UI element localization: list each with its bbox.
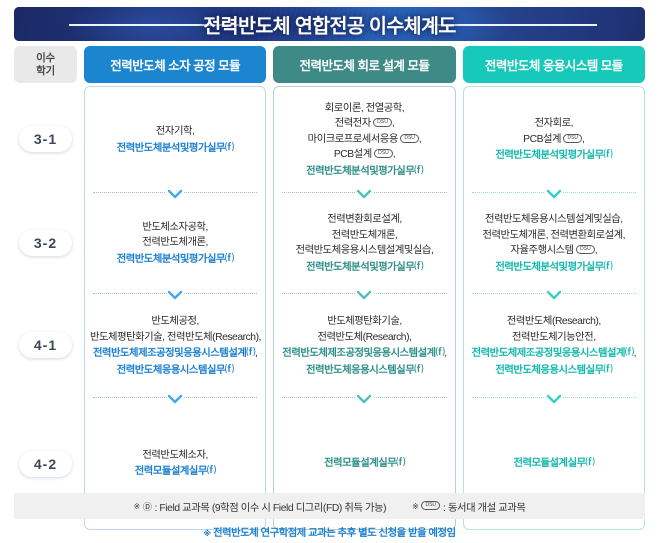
grid-columns: 이수 학기 3-1 3-2 4-1 4-2 [14, 46, 645, 530]
legend-item-dsu: ※ DSU : 동서대 개설 교과목 [412, 499, 525, 514]
course-cell-c1r0: 회로이론, 전열공학,전력전자 DSU,마이크로프로세서응용 DSU,PCB설계… [274, 87, 454, 193]
semester-header-line1: 이수 [36, 52, 55, 65]
semester-chip: 3-1 [19, 126, 72, 152]
field-mark-icon: ⒡ [246, 345, 255, 361]
course-name: 전력반도체분석및평가실무 [495, 262, 603, 273]
course-name: 전력모듈설계실무 [324, 458, 396, 469]
title-banner: 전력반도체 연합전공 이수체계도 [14, 7, 645, 41]
course-cell-c0r0: 전자기학,전력반도체분석및평가실무⒡ [85, 87, 265, 193]
course-name: PCB설계 [334, 149, 372, 160]
course-name: 전력반도체(Research), [507, 316, 601, 327]
course-line: 전력변환회로설계, [279, 212, 449, 228]
chevron-down-icon [545, 392, 563, 403]
module-body-1: 회로이론, 전열공학,전력전자 DSU,마이크로프로세서응용 DSU,PCB설계… [273, 86, 455, 530]
course-list: 전자기학,전력반도체분석및평가실무⒡ [90, 124, 260, 156]
course-name: 전력반도체분석및평가실무 [306, 166, 414, 177]
course-list: 전력모듈설계실무⒡ [469, 455, 639, 472]
chevron-down-icon [166, 288, 184, 299]
legend-field-text: : Field 교과목 (9학점 이수 시 Field 디그리(FD) 취득 가… [154, 499, 386, 514]
course-name: 마이크로프로세서응용 [308, 134, 398, 145]
course-name: 반도체소자공학, [142, 222, 208, 233]
semester-list: 3-1 3-2 4-1 4-2 [14, 86, 77, 530]
course-line: 전력반도체제조공정및응용시스템설계⒡, [469, 345, 639, 362]
course-list: 회로이론, 전열공학,전력전자 DSU,마이크로프로세서응용 DSU,PCB설계… [279, 101, 449, 180]
chevron-down-icon [166, 392, 184, 403]
semester-column: 이수 학기 3-1 3-2 4-1 4-2 [14, 46, 77, 530]
course-line: 전자회로, [469, 116, 639, 132]
module-body-0: 전자기학,전력반도체분석및평가실무⒡ 반도체소자공학,전력반도체개론,전력반도체… [84, 86, 266, 530]
field-mark-icon: ⒡ [207, 463, 216, 479]
semester-row: 3-2 [14, 192, 77, 293]
chevron-down-icon [166, 187, 184, 198]
course-line: 전력반도체응용시스템실무⒡ [279, 362, 449, 379]
course-name: 전력반도체제조공정및응용시스템설계 [93, 348, 246, 359]
course-line: 전력반도체기능안전, [469, 330, 639, 346]
course-line: 전력반도체분석및평가실무⒡ [279, 259, 449, 276]
field-mark-icon: ⒡ [396, 455, 405, 471]
field-mark-icon: ⒡ [604, 362, 613, 378]
course-line: PCB설계 DSU, [469, 132, 639, 148]
course-name: 자율주행시스템 [511, 245, 574, 256]
course-name: 전력모듈설계실무 [135, 466, 207, 477]
chevron-down-icon [355, 288, 373, 299]
course-name: 회로이론, 전열공학, [325, 103, 404, 114]
field-mark-icon: ⒡ [414, 163, 423, 179]
course-name: 전력반도체소자, [142, 450, 208, 461]
course-name: 전력반도체응용시스템설계및실습, [296, 245, 434, 256]
course-list: 전자회로,PCB설계 DSU,전력반도체분석및평가실무⒡ [469, 116, 639, 164]
course-list: 전력반도체응용시스템설계및실습,전력반도체개론, 전력변환회로설계,자율주행시스… [469, 212, 639, 275]
semester-row: 3-1 [14, 86, 77, 192]
semester-row: 4-1 [14, 293, 77, 397]
field-mark-icon: ⒡ [625, 345, 634, 361]
legend-dsu-text: : 동서대 개설 교과목 [443, 499, 525, 514]
course-line: 전자기학, [90, 124, 260, 140]
course-name: 반도체공정, [151, 316, 199, 327]
course-name: 전력반도체제조공정및응용시스템설계 [472, 348, 625, 359]
dsu-badge-icon: DSU [373, 118, 392, 127]
course-name: 전력전자 [335, 118, 371, 129]
field-mark-icon: ⒡ [225, 251, 234, 267]
course-line: 전력반도체분석및평가실무⒡ [90, 251, 260, 268]
module-header-2[interactable]: 전력반도체 응용시스템 모듈 [463, 46, 645, 83]
dsu-badge-icon: DSU [563, 134, 582, 143]
course-line: 마이크로프로세서응용 DSU, [279, 132, 449, 148]
page-title: 전력반도체 연합전공 이수체계도 [14, 10, 645, 39]
course-name: 전자기학, [156, 126, 195, 137]
course-line: 전력전자 DSU, [279, 116, 449, 132]
course-line: 전력반도체응용시스템설계및실습, [469, 212, 639, 228]
course-line: 전력모듈설계실무⒡ [279, 455, 449, 472]
field-mark-icon: Ⓓ [143, 500, 152, 513]
course-name: 전력반도체개론, 전력변환회로설계, [483, 230, 626, 241]
semester-chip: 4-1 [19, 332, 72, 358]
course-cell-c2r2: 전력반도체(Research),전력반도체기능안전,전력반도체제조공정및응용시스… [464, 294, 644, 398]
module-column-1: 전력반도체 회로 설계 모듈 회로이론, 전열공학,전력전자 DSU,마이크로프… [273, 46, 455, 530]
course-line: 전력반도체(Research), [469, 314, 639, 330]
module-header-0[interactable]: 전력반도체 소자 공정 모듈 [84, 46, 266, 83]
course-line: 반도체평탄화기술, 전력반도체(Research), [90, 330, 260, 346]
legend-bar: ※ Ⓓ : Field 교과목 (9학점 이수 시 Field 디그리(FD) … [14, 493, 645, 519]
module-column-0: 전력반도체 소자 공정 모듈 전자기학,전력반도체분석및평가실무⒡ 반도체소자공… [84, 46, 266, 530]
course-list: 전력변환회로설계,전력반도체개론,전력반도체응용시스템설계및실습,전력반도체분석… [279, 212, 449, 275]
field-mark-icon: ⒡ [604, 147, 613, 163]
course-line: 전력반도체분석및평가실무⒡ [279, 163, 449, 180]
semester-column-header: 이수 학기 [14, 46, 77, 83]
course-line: 전력반도체개론, [90, 235, 260, 251]
semester-chip: 3-2 [19, 230, 72, 256]
asterisk-icon: ※ [412, 502, 418, 511]
course-line: 전력모듈설계실무⒡ [90, 463, 260, 480]
course-name: 전력모듈설계실무 [513, 458, 585, 469]
semester-header-line2: 학기 [36, 65, 55, 78]
course-name: 전력반도체분석및평가실무 [117, 143, 225, 154]
course-cell-c2r0: 전자회로,PCB설계 DSU,전력반도체분석및평가실무⒡ [464, 87, 644, 193]
course-list: 반도체공정,반도체평탄화기술, 전력반도체(Research),전력반도체제조공… [90, 314, 260, 378]
course-name: 전력반도체응용시스템실무 [117, 365, 225, 376]
course-name: 전력반도체제조공정및응용시스템설계 [282, 348, 435, 359]
field-mark-icon: ⒡ [604, 259, 613, 275]
course-line: 반도체평탄화기술, [279, 314, 449, 330]
module-column-2: 전력반도체 응용시스템 모듈 전자회로,PCB설계 DSU,전력반도체분석및평가… [463, 46, 645, 530]
course-line: 회로이론, 전열공학, [279, 101, 449, 117]
course-line: 전력반도체(Research), [279, 330, 449, 346]
course-name: 반도체평탄화기술, 전력반도체(Research), [90, 332, 261, 343]
course-line: 전력반도체분석및평가실무⒡ [469, 259, 639, 276]
course-name: 전력반도체개론, [332, 230, 398, 241]
course-line: 전력반도체제조공정및응용시스템설계⒡, [279, 345, 449, 362]
course-cell-c0r1: 반도체소자공학,전력반도체개론,전력반도체분석및평가실무⒡ [85, 193, 265, 294]
course-list: 반도체소자공학,전력반도체개론,전력반도체분석및평가실무⒡ [90, 220, 260, 268]
course-name: 전력변환회로설계, [327, 214, 402, 225]
course-name: 전력반도체기능안전, [512, 332, 596, 343]
field-mark-icon: ⒡ [225, 140, 234, 156]
course-line: 전력반도체응용시스템실무⒡ [90, 362, 260, 379]
chevron-down-icon [355, 187, 373, 198]
curriculum-grid: 이수 학기 3-1 3-2 4-1 4-2 [14, 46, 645, 530]
course-line: 전력반도체제조공정및응용시스템설계⒡, [90, 345, 260, 362]
course-line: 자율주행시스템 DSU, [469, 243, 639, 259]
course-cell-c1r2: 반도체평탄화기술,전력반도체(Research),전력반도체제조공정및응용시스템… [274, 294, 454, 398]
course-line: 전력반도체응용시스템설계및실습, [279, 243, 449, 259]
course-line: 전력반도체분석및평가실무⒡ [469, 147, 639, 164]
chevron-down-icon [545, 288, 563, 299]
course-line: 전력반도체분석및평가실무⒡ [90, 140, 260, 157]
course-name: 전력반도체응용시스템실무 [306, 365, 414, 376]
module-header-1[interactable]: 전력반도체 회로 설계 모듈 [273, 46, 455, 83]
semester-chip: 4-2 [19, 451, 72, 477]
course-line: 반도체공정, [90, 314, 260, 330]
field-mark-icon: ⒡ [586, 455, 595, 471]
footer-note-text: 전력반도체 연구학점제 교과는 추후 별도 신청을 받을 예정임 [213, 528, 455, 539]
course-name: 전력반도체분석및평가실무 [495, 150, 603, 161]
chevron-down-icon [355, 392, 373, 403]
field-mark-icon: ⒡ [414, 362, 423, 378]
course-line: 전력반도체응용시스템실무⒡ [469, 362, 639, 379]
dsu-badge-icon: DSU [374, 149, 393, 158]
course-name: 전자회로, [535, 118, 574, 129]
course-list: 반도체평탄화기술,전력반도체(Research),전력반도체제조공정및응용시스템… [279, 314, 449, 378]
course-cell-c2r1: 전력반도체응용시스템설계및실습,전력반도체개론, 전력변환회로설계,자율주행시스… [464, 193, 644, 294]
course-name: 전력반도체개론, [142, 237, 208, 248]
course-name: 전력반도체응용시스템설계및실습, [485, 214, 623, 225]
asterisk-icon: ※ [134, 502, 140, 511]
asterisk-icon: ※ [203, 529, 210, 538]
course-name: 전력반도체응용시스템실무 [495, 365, 603, 376]
course-name: 전력반도체분석및평가실무 [306, 262, 414, 273]
course-line: 반도체소자공학, [90, 220, 260, 236]
course-line: 전력모듈설계실무⒡ [469, 455, 639, 472]
dsu-badge-icon: DSU [400, 134, 419, 143]
course-name: 전력반도체분석및평가실무 [117, 254, 225, 265]
field-mark-icon: ⒡ [414, 259, 423, 275]
course-cell-c1r1: 전력변환회로설계,전력반도체개론,전력반도체응용시스템설계및실습,전력반도체분석… [274, 193, 454, 294]
course-name: PCB설계 [523, 134, 561, 145]
chevron-down-icon [545, 187, 563, 198]
course-line: 전력반도체개론, 전력변환회로설계, [469, 228, 639, 244]
module-body-2: 전자회로,PCB설계 DSU,전력반도체분석및평가실무⒡ 전력반도체응용시스템설… [463, 86, 645, 530]
course-line: 전력반도체개론, [279, 228, 449, 244]
curriculum-diagram: 전력반도체 연합전공 이수체계도 이수 학기 3-1 3-2 4 [0, 0, 659, 543]
field-mark-icon: ⒡ [225, 362, 234, 378]
course-cell-c0r2: 반도체공정,반도체평탄화기술, 전력반도체(Research),전력반도체제조공… [85, 294, 265, 398]
course-line: PCB설계 DSU, [279, 147, 449, 163]
course-list: 전력모듈설계실무⒡ [279, 455, 449, 472]
footer-note: ※ 전력반도체 연구학점제 교과는 추후 별도 신청을 받을 예정임 [0, 524, 659, 539]
field-mark-icon: ⒡ [436, 345, 445, 361]
course-list: 전력반도체(Research),전력반도체기능안전,전력반도체제조공정및응용시스… [469, 314, 639, 378]
course-name: 전력반도체(Research), [318, 332, 412, 343]
legend-item-field: ※ Ⓓ : Field 교과목 (9학점 이수 시 Field 디그리(FD) … [134, 499, 387, 514]
course-list: 전력반도체소자,전력모듈설계실무⒡ [90, 448, 260, 480]
course-line: 전력반도체소자, [90, 448, 260, 464]
course-name: 반도체평탄화기술, [327, 316, 402, 327]
dsu-badge-icon: DSU [576, 245, 595, 254]
dsu-badge-icon: DSU [421, 501, 440, 510]
